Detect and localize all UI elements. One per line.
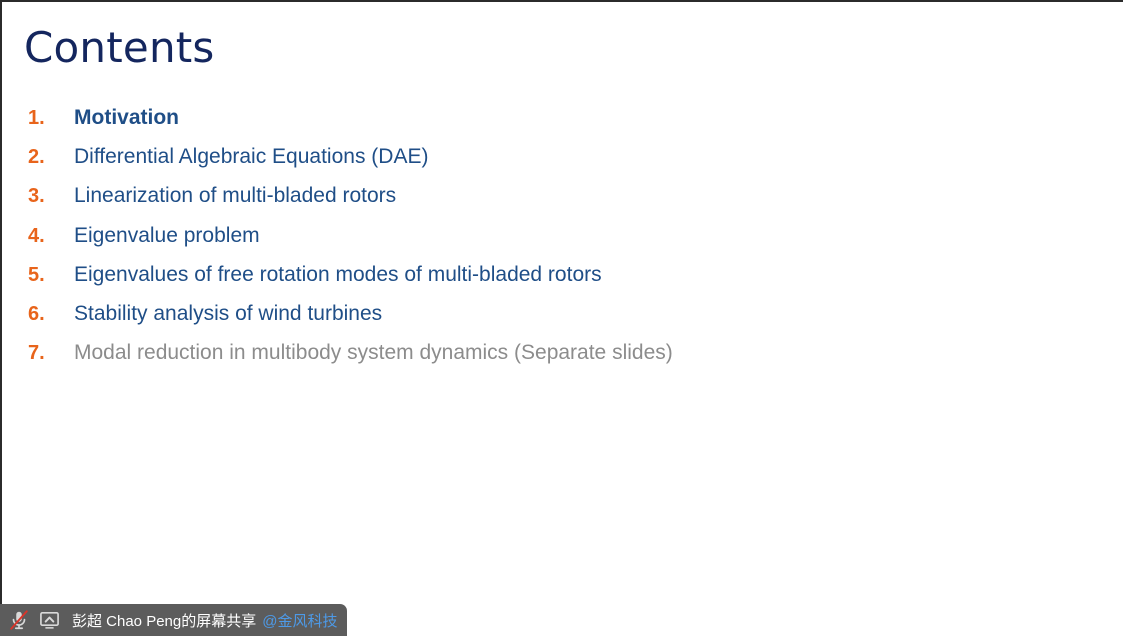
presentation-slide: Contents 1. Motivation 2. Differential A… bbox=[0, 0, 1123, 636]
screen-share-status-bar[interactable]: 彭超 Chao Peng的屏幕共享 @金风科技 bbox=[0, 604, 347, 636]
list-item-number: 3. bbox=[28, 185, 74, 208]
list-item[interactable]: 5. Eigenvalues of free rotation modes of… bbox=[28, 263, 1068, 302]
list-item-label: Eigenvalue problem bbox=[74, 224, 260, 248]
slide-left-border bbox=[0, 0, 2, 636]
list-item-number: 6. bbox=[28, 303, 74, 326]
share-presenter-label: 彭超 Chao Peng的屏幕共享 bbox=[72, 610, 256, 631]
list-item-number: 2. bbox=[28, 146, 74, 169]
share-company-label: @金风科技 bbox=[262, 610, 337, 631]
list-item-number: 5. bbox=[28, 264, 74, 287]
list-item-label: Stability analysis of wind turbines bbox=[74, 302, 382, 326]
list-item-number: 1. bbox=[28, 107, 74, 130]
list-item-number: 7. bbox=[28, 342, 74, 365]
page-title: Contents bbox=[24, 22, 215, 74]
list-item[interactable]: 3. Linearization of multi-bladed rotors bbox=[28, 184, 1068, 223]
microphone-muted-icon[interactable] bbox=[6, 607, 32, 633]
list-item-label: Differential Algebraic Equations (DAE) bbox=[74, 145, 428, 169]
list-item[interactable]: 6. Stability analysis of wind turbines bbox=[28, 302, 1068, 341]
list-item[interactable]: 1. Motivation bbox=[28, 106, 1068, 145]
screen-share-icon[interactable] bbox=[36, 607, 62, 633]
slide-top-border bbox=[0, 0, 1123, 2]
list-item[interactable]: 7. Modal reduction in multibody system d… bbox=[28, 341, 1068, 380]
list-item[interactable]: 4. Eigenvalue problem bbox=[28, 224, 1068, 263]
list-item-label: Motivation bbox=[74, 106, 179, 130]
contents-list: 1. Motivation 2. Differential Algebraic … bbox=[28, 106, 1068, 380]
list-item[interactable]: 2. Differential Algebraic Equations (DAE… bbox=[28, 145, 1068, 184]
list-item-label: Linearization of multi-bladed rotors bbox=[74, 184, 396, 208]
list-item-number: 4. bbox=[28, 225, 74, 248]
list-item-label: Modal reduction in multibody system dyna… bbox=[74, 341, 673, 365]
list-item-label: Eigenvalues of free rotation modes of mu… bbox=[74, 263, 602, 287]
